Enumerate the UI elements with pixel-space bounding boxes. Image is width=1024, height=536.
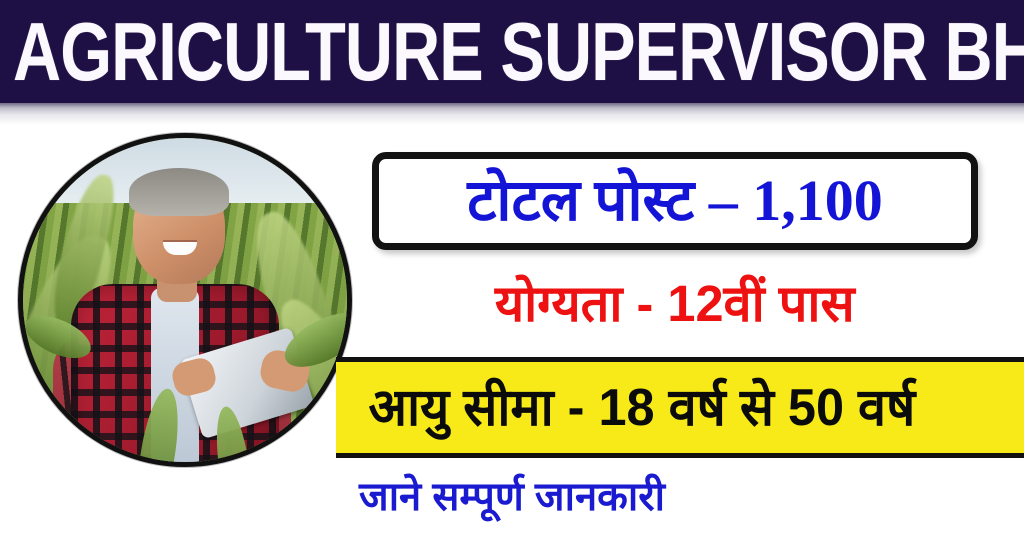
banner-title: AGRICULTURE SUPERVISOR BHARTI 2026 bbox=[13, 10, 1024, 93]
poster-canvas: AGRICULTURE SUPERVISOR BHARTI 2026 टोटल … bbox=[0, 0, 1024, 536]
farmer-photo bbox=[18, 133, 352, 467]
total-post-text: टोटल पोस्ट – 1,100 bbox=[467, 170, 883, 232]
banner-shadow-divider bbox=[0, 103, 1024, 125]
eligibility-row: योग्यता - 12वीं पास bbox=[372, 268, 978, 340]
banner-header: AGRICULTURE SUPERVISOR BHARTI 2026 bbox=[0, 0, 1024, 103]
age-limit-text: आयु सीमा - 18 वर्ष से 50 वर्ष bbox=[368, 379, 915, 437]
photo-hair bbox=[129, 168, 229, 216]
age-limit-bar: आयु सीमा - 18 वर्ष से 50 वर्ष bbox=[336, 357, 1024, 458]
eligibility-text: योग्यता - 12वीं पास bbox=[495, 276, 855, 332]
cta-row[interactable]: जाने सम्पूर्ण जानकारी bbox=[0, 466, 1024, 528]
total-post-box: टोटल पोस्ट – 1,100 bbox=[372, 152, 978, 250]
cta-text[interactable]: जाने सम्पूर्ण जानकारी bbox=[359, 474, 665, 520]
